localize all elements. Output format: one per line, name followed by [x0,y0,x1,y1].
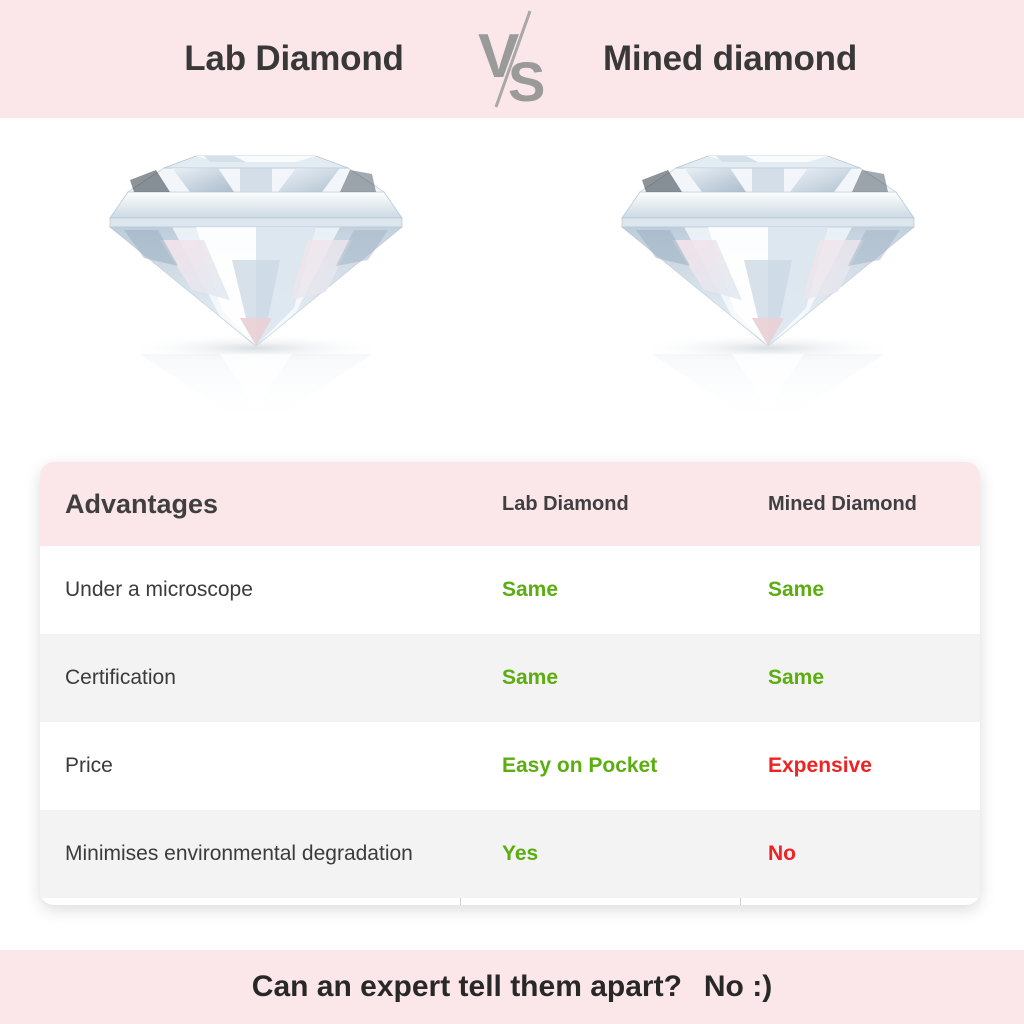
page-title-lab: Lab Diamond [124,39,464,79]
header-cell-feature: Advantages [40,462,460,546]
cell-mined-value: No [740,810,980,898]
diamond-cell-mined [512,118,1024,448]
header-lab-label: Lab Diamond [502,493,629,516]
mined-value: Same [768,666,824,690]
feature-label: Price [65,753,113,780]
header-advantages-label: Advantages [65,489,218,520]
table-row: Certification Same Same [40,634,980,722]
feature-label: Minimises environmental degradation [65,841,413,868]
mined-value: No [768,842,796,866]
footer-band: Can an expert tell them apart? No :) [0,950,1024,1024]
table-row: Minimises environmental degradation Yes … [40,810,980,898]
page-title-mined: Mined diamond [560,39,900,79]
header-cell-lab: Lab Diamond [460,462,740,546]
cell-feature: Certification [40,634,460,722]
lab-value: Same [502,666,558,690]
table-header-row: Advantages Lab Diamond Mined Diamond [40,462,980,546]
lab-value: Yes [502,842,538,866]
header-cell-mined: Mined Diamond [740,462,980,546]
versus-icon: V S [464,7,560,111]
cell-lab-value: Yes [460,810,740,898]
cell-mined-value: Expensive [740,722,980,810]
lab-value: Easy on Pocket [502,754,657,778]
cell-mined-value: Same [740,634,980,722]
mined-value: Same [768,578,824,602]
header-band: Lab Diamond V S Mined diamond [0,0,1024,118]
diamond-gallery [0,118,1024,448]
feature-label: Certification [65,665,176,692]
cell-feature: Minimises environmental degradation [40,810,460,898]
feature-label: Under a microscope [65,577,253,604]
mined-diamond-image [612,140,924,440]
cell-mined-value: Same [740,546,980,634]
mined-value: Expensive [768,754,872,778]
comparison-table: Advantages Lab Diamond Mined Diamond Und… [40,462,980,905]
diamond-cell-lab [0,118,512,448]
cell-lab-value: Same [460,546,740,634]
header-mined-label: Mined Diamond [768,493,917,516]
cell-lab-value: Easy on Pocket [460,722,740,810]
lab-diamond-image [100,140,412,440]
cell-lab-value: Same [460,634,740,722]
table-row: Under a microscope Same Same [40,546,980,634]
table-row: Price Easy on Pocket Expensive [40,722,980,810]
cell-feature: Price [40,722,460,810]
footer-answer: No :) [704,970,772,1004]
cell-feature: Under a microscope [40,546,460,634]
lab-value: Same [502,578,558,602]
footer-question: Can an expert tell them apart? [252,970,682,1004]
